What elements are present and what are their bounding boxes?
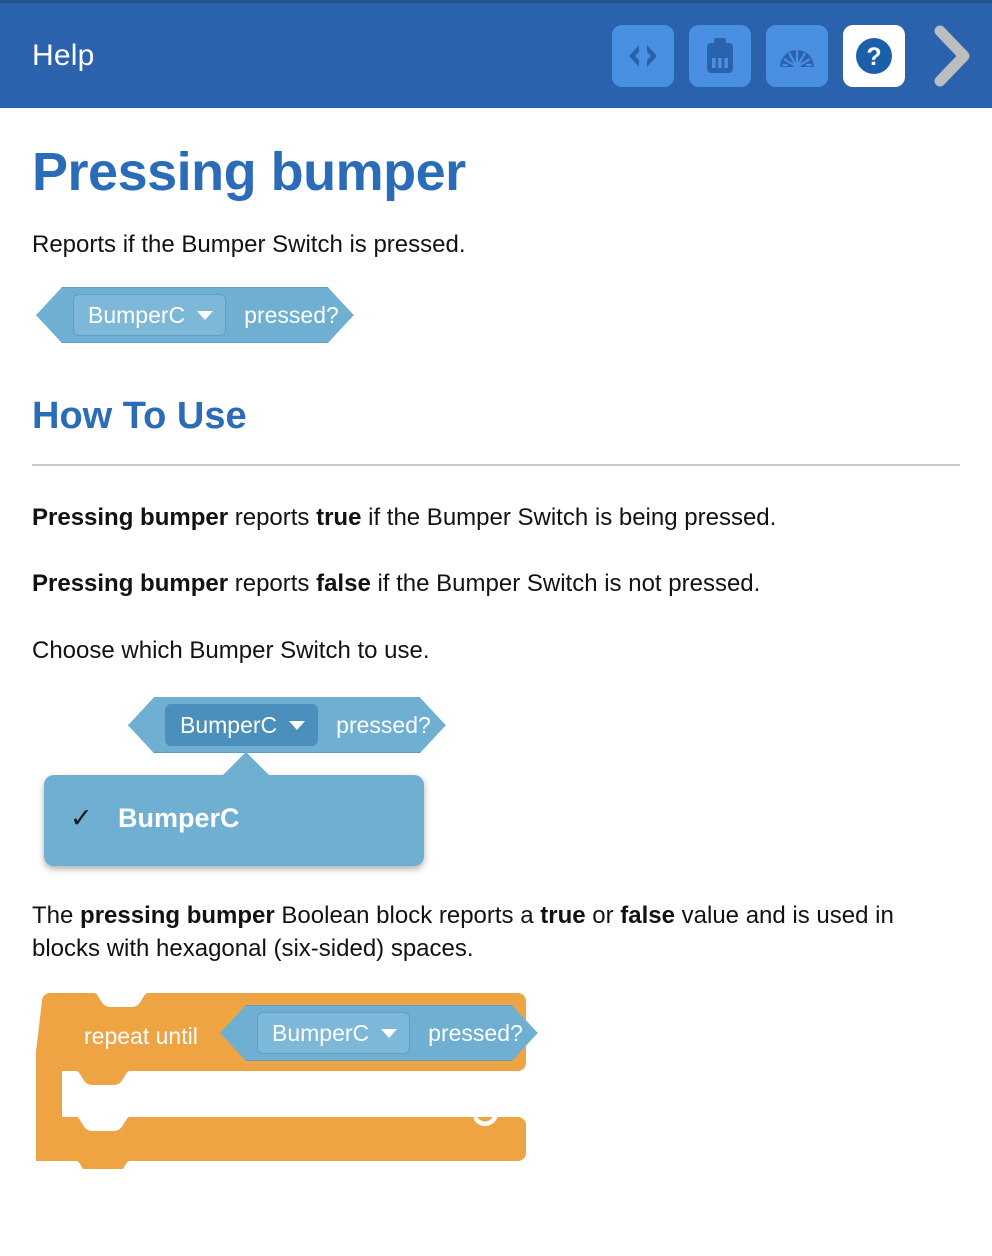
paragraph-false-bold-1: Pressing bumper [32,570,228,597]
boolean-block-example[interactable]: BumperC pressed? [36,287,992,343]
dropdown-menu-item-label: BumperC [118,803,240,834]
paragraph-false-text-1: reports [228,570,316,597]
device-battery-icon-glyph [705,38,735,74]
chevron-right-icon[interactable] [924,25,978,87]
svg-text:?: ? [866,43,881,71]
chevron-down-icon [381,1029,397,1038]
bumper-port-value-nested: BumperC [272,1020,369,1047]
paragraph-choose: Choose which Bumper Switch to use. [32,635,960,667]
repeat-until-condition-slot[interactable]: BumperC pressed? [220,1005,538,1061]
help-icon[interactable]: ? [843,25,905,87]
bumper-port-dropdown[interactable]: BumperC [73,294,226,336]
section-title-how-to-use: How To Use [32,395,992,438]
paragraph-boolean-bold-3: false [620,902,675,929]
loop-arrow-icon [470,1093,504,1127]
pressed-label-open: pressed? [336,712,431,739]
paragraph-boolean-bold-2: true [540,902,585,929]
pressed-label: pressed? [244,302,339,329]
paragraph-choose-text: Choose which Bumper Switch to use. [32,637,430,664]
header-toolbar: ? [612,25,978,87]
device-battery-icon[interactable] [689,25,751,87]
chevron-down-icon [197,311,213,320]
bumper-port-dropdown-menu[interactable]: ✓ BumperC [44,775,424,866]
chevron-down-icon [289,721,305,730]
bumper-port-value: BumperC [88,302,185,329]
article-description: Reports if the Bumper Switch is pressed. [32,229,992,261]
paragraph-boolean-text-2: Boolean block reports a [275,902,541,929]
paragraph-true: Pressing bumper reports true if the Bump… [32,502,960,534]
app-header: Help [0,0,992,108]
paragraph-true-bold-1: Pressing bumper [32,504,228,531]
check-icon: ✓ [70,805,92,832]
chevron-right-icon-glyph [929,25,973,87]
repeat-until-block[interactable]: repeat until BumperC pressed? [36,993,526,1165]
article-title: Pressing bumper [32,144,992,201]
gauge-icon-glyph [778,41,816,71]
bumper-port-value-active: BumperC [180,712,277,739]
paragraph-boolean-bold-1: pressing bumper [80,902,275,929]
paragraph-false-bold-2: false [316,570,371,597]
paragraph-true-text-2: if the Bumper Switch is being pressed. [361,504,776,531]
repeat-until-label: repeat until [84,1023,198,1050]
paragraph-false-text-2: if the Bumper Switch is not pressed. [371,570,761,597]
pressing-bumper-block-nested[interactable]: BumperC pressed? [220,1005,538,1061]
bumper-port-dropdown-nested[interactable]: BumperC [257,1012,410,1054]
page-title: Help [32,39,95,73]
paragraph-boolean-text-3: or [586,902,621,929]
paragraph-boolean-text-1: The [32,902,80,929]
paragraph-true-text-1: reports [228,504,316,531]
pressing-bumper-block[interactable]: BumperC pressed? [36,287,354,343]
paragraph-boolean-usage: The pressing bumper Boolean block report… [32,900,960,965]
code-icon[interactable] [612,25,674,87]
pressing-bumper-block-open[interactable]: BumperC pressed? [128,697,446,753]
dropdown-menu-item[interactable]: ✓ BumperC [44,797,424,840]
paragraph-true-bold-2: true [316,504,361,531]
help-icon-glyph: ? [854,36,894,76]
code-icon-glyph [626,42,660,70]
pressed-label-nested: pressed? [428,1020,523,1047]
bumper-port-dropdown-active[interactable]: BumperC [165,704,318,746]
help-article: Pressing bumper Reports if the Bumper Sw… [0,108,992,1165]
gauge-icon[interactable] [766,25,828,87]
section-divider [32,464,960,466]
paragraph-false: Pressing bumper reports false if the Bum… [32,568,960,600]
boolean-block-dropdown-open[interactable]: BumperC pressed? [128,697,992,753]
